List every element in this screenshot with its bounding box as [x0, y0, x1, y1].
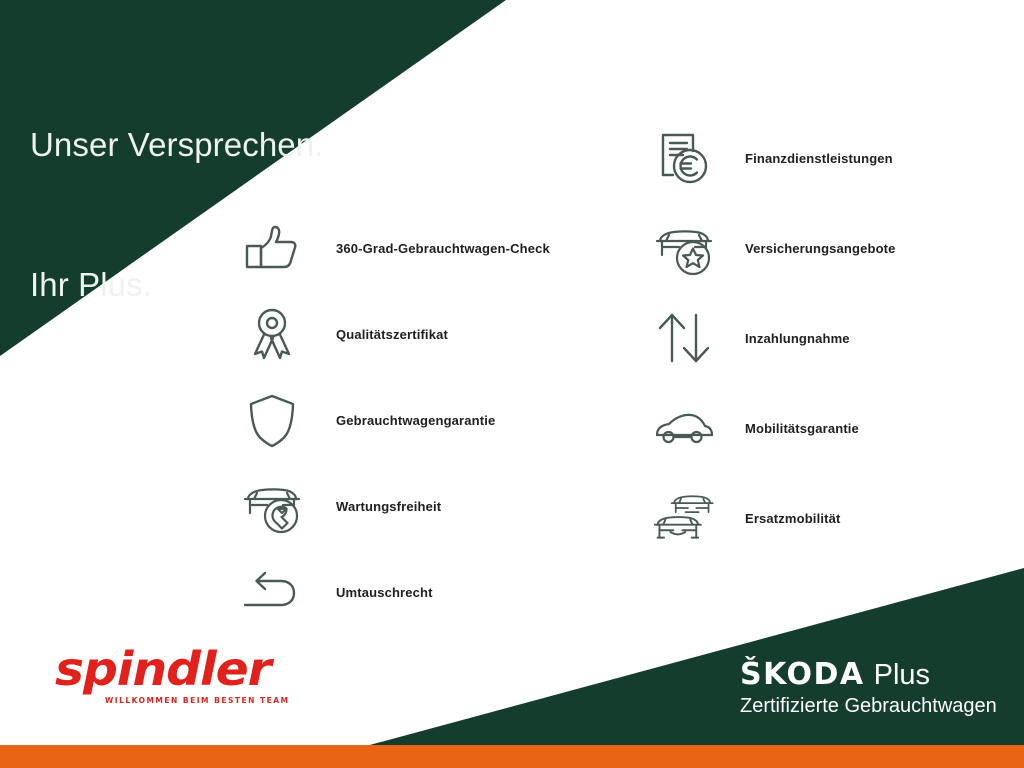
document-euro-icon: [648, 122, 720, 194]
benefit-item-return-right: Umtauschrecht: [236, 552, 550, 632]
benefit-label: Gebrauchtwagengarantie: [336, 413, 495, 428]
spindler-logo: spindler WILLKOMMEN BEIM BESTEN TEAM: [55, 646, 315, 708]
benefit-label: Versicherungsangebote: [745, 241, 896, 256]
orange-bottom-bar: [0, 745, 1024, 768]
shield-icon: [236, 384, 308, 456]
spindler-wordmark: spindler: [55, 646, 331, 692]
benefit-label: Finanzdienstleistungen: [745, 151, 893, 166]
benefit-label: Ersatzmobilität: [745, 511, 840, 526]
benefits-column-left: 360-Grad-Gebrauchtwagen-Check Qualitätsz…: [236, 208, 550, 638]
benefit-label: Wartungsfreiheit: [336, 499, 441, 514]
spindler-tagline: WILLKOMMEN BEIM BESTEN TEAM: [105, 696, 315, 705]
skoda-logo-line-1: ŠKODA Plus: [740, 660, 1010, 690]
benefit-item-used-car-warranty: Gebrauchtwagengarantie: [236, 380, 550, 460]
benefit-label: Qualitätszertifikat: [336, 327, 448, 342]
benefit-item-360-check: 360-Grad-Gebrauchtwagen-Check: [236, 208, 550, 288]
return-arrow-icon: [236, 556, 308, 628]
benefit-item-trade-in: Inzahlungnahme: [648, 298, 896, 378]
skoda-subtitle: Zertifizierte Gebrauchtwagen: [740, 695, 1010, 718]
thumbs-up-icon: [236, 212, 308, 284]
benefit-item-replacement-mobility: Ersatzmobilität: [648, 478, 896, 558]
award-rosette-icon: [236, 298, 308, 370]
benefit-item-mobility-guarantee: Mobilitätsgarantie: [648, 388, 896, 468]
benefit-label: Inzahlungnahme: [745, 331, 850, 346]
car-star-icon: [648, 212, 720, 284]
car-wrench-icon: [236, 470, 308, 542]
skoda-plus-label: Plus: [874, 661, 930, 690]
benefit-item-quality-certificate: Qualitätszertifikat: [236, 294, 550, 374]
skoda-plus-logo: ŠKODA Plus Zertifizierte Gebrauchtwagen: [740, 660, 1010, 718]
car-side-icon: [648, 392, 720, 464]
benefit-item-insurance-offers: Versicherungsangebote: [648, 208, 896, 288]
promo-banner: Unser Versprechen. Ihr Plus. 360-Grad-Ge…: [0, 0, 1024, 768]
benefit-label: 360-Grad-Gebrauchtwagen-Check: [336, 241, 550, 256]
benefit-label: Mobilitätsgarantie: [745, 421, 859, 436]
benefit-item-maintenance-free: Wartungsfreiheit: [236, 466, 550, 546]
benefits-column-right: Finanzdienstleistungen Versicherungsange…: [648, 118, 896, 568]
headline-line-1: Unser Versprechen.: [30, 122, 323, 169]
up-down-arrows-icon: [648, 302, 720, 374]
skoda-wordmark: ŠKODA: [740, 660, 865, 690]
benefit-label: Umtauschrecht: [336, 585, 433, 600]
two-cars-icon: [648, 482, 720, 554]
benefit-item-financial-services: Finanzdienstleistungen: [648, 118, 896, 198]
